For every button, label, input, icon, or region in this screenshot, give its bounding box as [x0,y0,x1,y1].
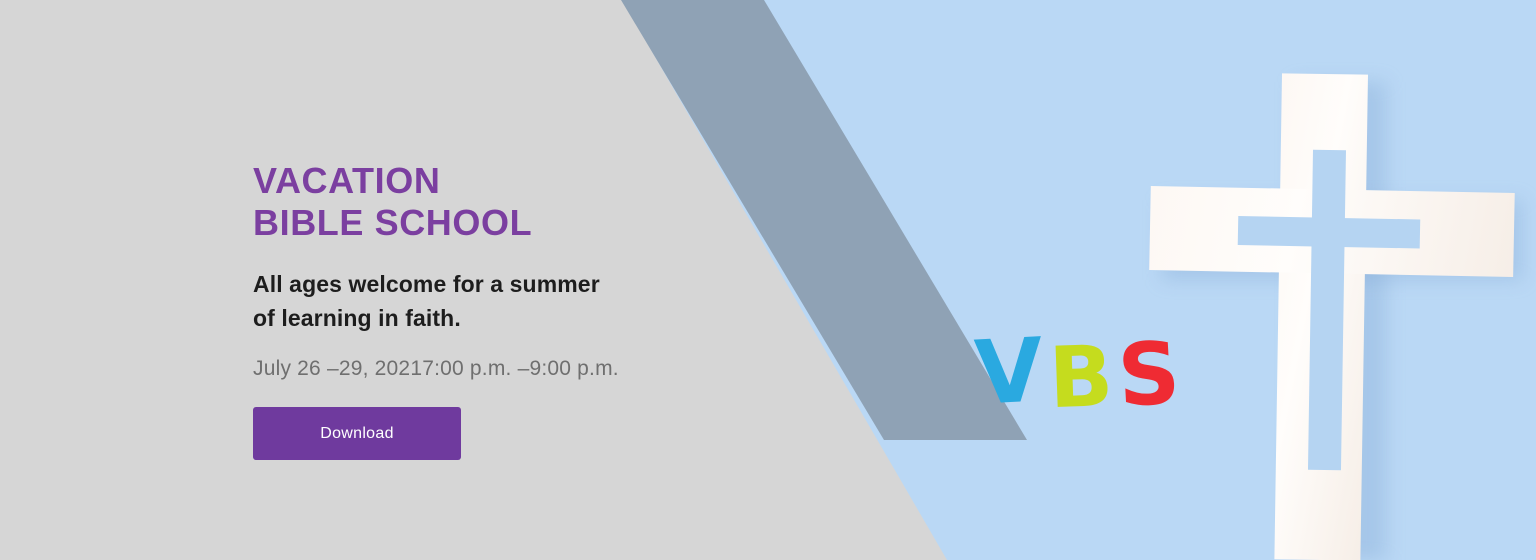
vbs-promo-banner: V B S VACATION BIBLE SCHOOL All ages wel… [0,0,1536,560]
subheadline: All ages welcome for a summer of learnin… [253,267,773,335]
vbs-letter-b: B [1048,334,1115,420]
subheadline-line-2: of learning in faith. [253,301,773,335]
event-date: July 26 –29, 2021 [253,357,422,380]
event-datetime: July 26 –29, 20217:00 p.m. –9:00 p.m. [253,357,773,381]
cross-inner-horizontal-slot [1238,216,1421,248]
headline-line-2: BIBLE SCHOOL [253,202,773,244]
vbs-letter-s: S [1116,330,1182,419]
subheadline-line-1: All ages welcome for a summer [253,267,773,301]
page-title: VACATION BIBLE SCHOOL [253,160,773,245]
download-button[interactable]: Download [253,407,461,460]
banner-copy: VACATION BIBLE SCHOOL All ages welcome f… [253,160,773,460]
vbs-letter-v: V [973,326,1046,417]
event-time: 7:00 p.m. –9:00 p.m. [422,357,619,380]
headline-line-1: VACATION [253,160,773,202]
cross-inner-vertical-slot [1308,150,1346,470]
